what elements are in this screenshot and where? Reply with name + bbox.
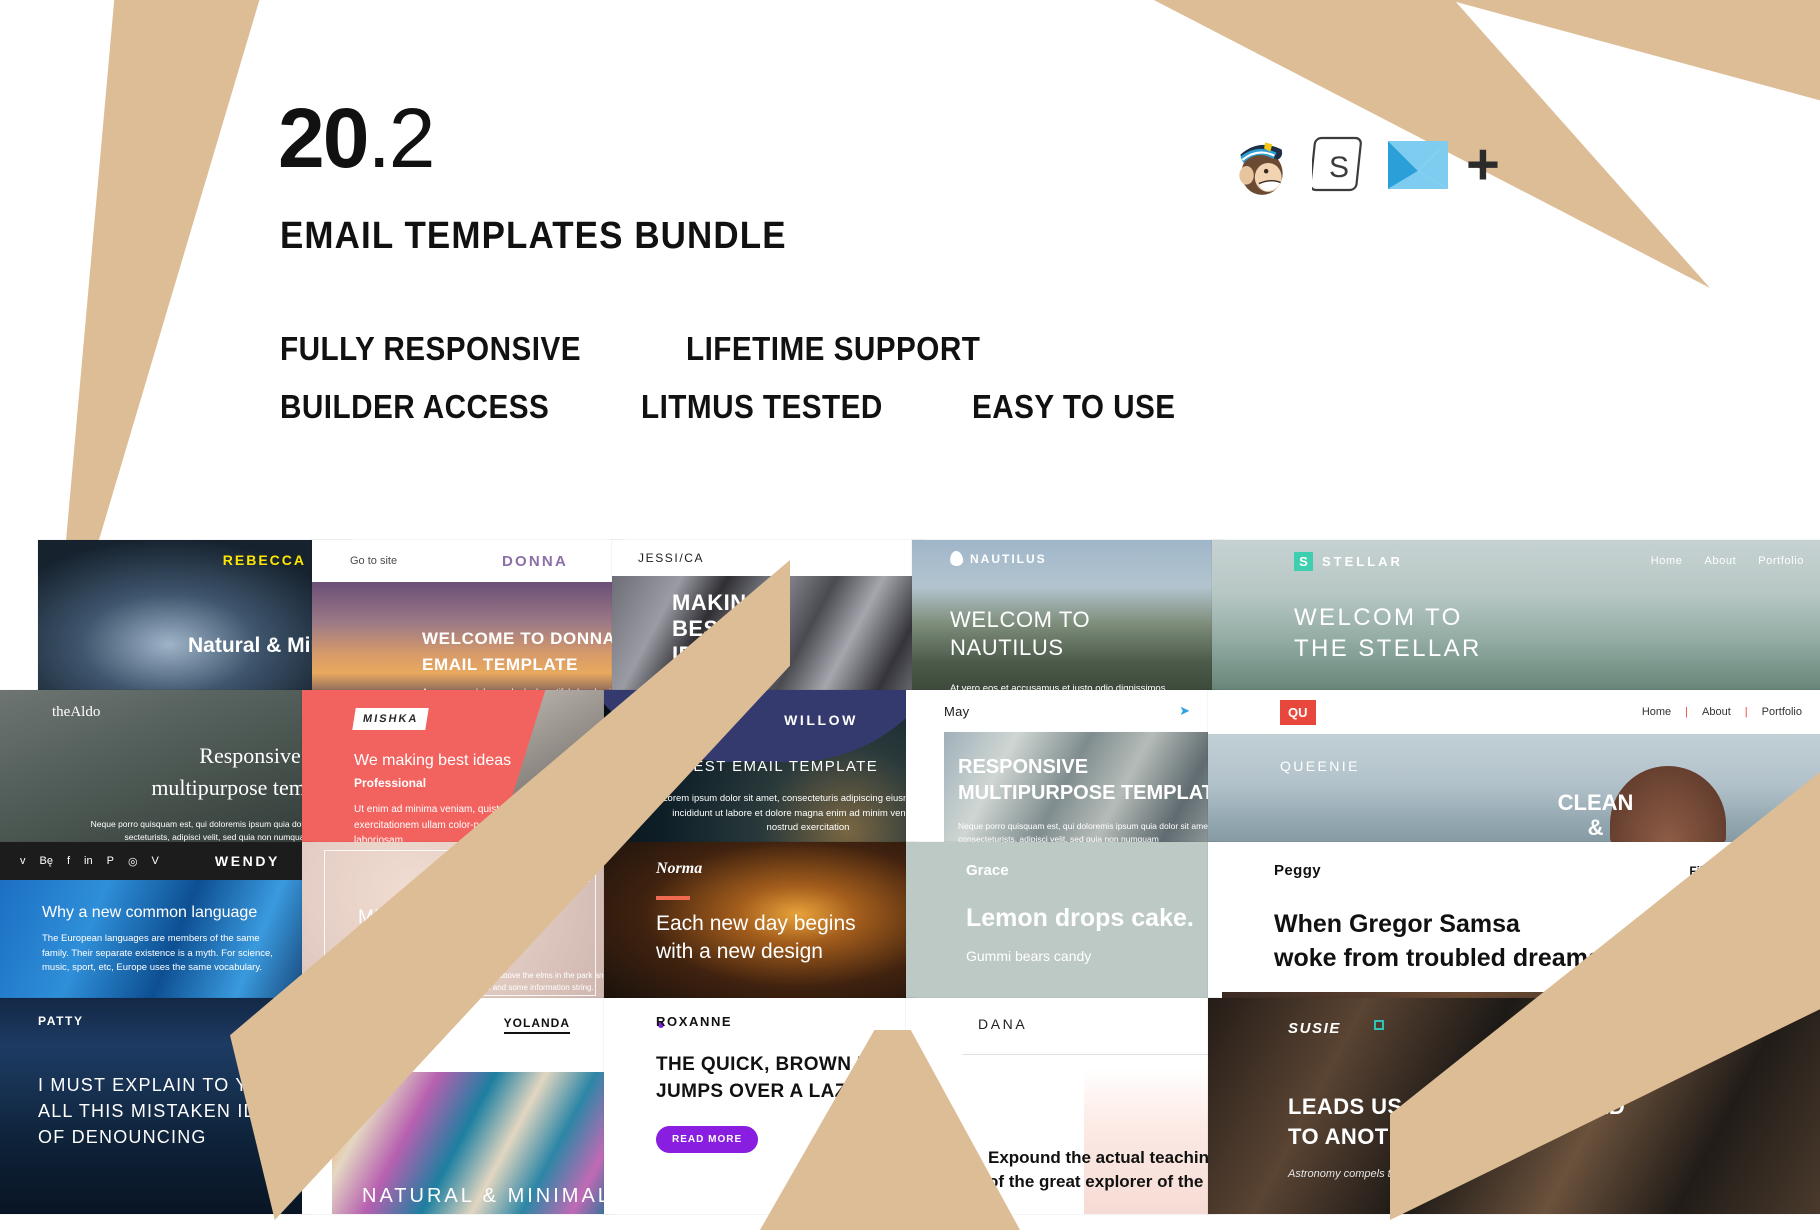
template-card-susie[interactable]: SUSIE LEADS US FROM THIS WORLD TO ANOTHE… [1208, 998, 1820, 1214]
headline-wendy: Why a new common language [42, 904, 257, 922]
nav-item-portfolio[interactable]: Portfolio [1758, 555, 1804, 567]
headline-aldo: Responsive multipurpose template [80, 740, 312, 804]
brand-jessica: JESSI/CA [638, 551, 704, 565]
subhead-grace: Gummi bears candy [966, 948, 1091, 964]
brand-aldo: theAldo [52, 704, 100, 721]
template-card-grace[interactable]: Grace Lemon drops cake. Gummi bears cand… [906, 842, 1218, 1006]
brand-may: May [944, 704, 969, 719]
body-aldo: Neque porro quisquam est, qui doloremis … [68, 818, 312, 844]
template-preview-grid: REBECCA Natural & Minimal Go to site DON… [0, 540, 1820, 1214]
mailchimp-icon [1228, 132, 1294, 198]
headline-allison: MULTIPURPOSE EMAIL TEMPLATE [358, 904, 527, 959]
nav-item-film[interactable]: Film [1689, 864, 1714, 878]
header: 20.2 EMAIL TEMPLATES BUNDLE FULLY RESPON… [0, 0, 1820, 540]
stampready-icon: S [1312, 132, 1370, 198]
brand-stellar: STELLAR [1322, 554, 1403, 569]
headline-susie: LEADS US FROM THIS WORLD TO ANOTHER [1288, 1092, 1625, 1152]
template-card-patty[interactable]: PATTY I MUST EXPLAIN TO YOU ALL THIS MIS… [0, 998, 312, 1214]
nav-item-home[interactable]: Home [1642, 706, 1671, 718]
twitter-icon[interactable]: ➤ [1179, 703, 1190, 719]
brand-dana: DANA [978, 1016, 1027, 1032]
template-card-may[interactable]: May ➤ RESPONSIVE MULTIPURPOSE TEMPLATE N… [906, 690, 1218, 850]
page-subtitle: EMAIL TEMPLATES BUNDLE [280, 215, 787, 258]
template-topbar: May [906, 690, 1218, 732]
template-topbar: JESSI/CA [612, 540, 924, 576]
norma-accent-rule [656, 896, 690, 900]
brand-willow: WILLOW [784, 712, 858, 728]
vimeo-icon[interactable]: V [152, 855, 159, 868]
brand-roxanne: ROXANNE [656, 1014, 732, 1029]
body-wendy: The European languages are members of th… [42, 932, 282, 976]
feature-easy-to-use: EASY TO USE [972, 388, 1176, 426]
brand-donna: DONNA [502, 553, 568, 570]
template-card-wendy[interactable]: ᴠ Bę f in P ◎ V WENDY Why a new common l… [0, 842, 312, 1006]
template-card-peggy[interactable]: Peggy Film Shop When Gregor Samsa woke f… [1208, 842, 1820, 1006]
brand-wendy: WENDY [215, 853, 280, 869]
queenie-logo-badge: QU [1280, 700, 1316, 725]
brand-peggy: Peggy [1274, 862, 1321, 879]
headline-willow: BEST EMAIL TEMPLATE [682, 758, 878, 775]
peggy-nav: Film Shop [1689, 864, 1802, 878]
nav-separator: | [1745, 706, 1748, 718]
plus-icon: + [1466, 148, 1500, 183]
brand-susie: SUSIE [1288, 1020, 1341, 1037]
headline-roxanne: THE QUICK, BROWN FOX JUMPS OVER A LAZY D… [656, 1052, 910, 1106]
nav-item-shop[interactable]: Shop [1772, 864, 1802, 878]
headline-may: RESPONSIVE MULTIPURPOSE TEMPLATE [958, 754, 1218, 807]
headline-norma: Each new day begins with a new design [656, 910, 856, 967]
nav-item-portfolio[interactable]: Portfolio [1762, 706, 1802, 718]
headline-donna: WELCOME TO DONNA EMAIL TEMPLATE [422, 626, 615, 677]
brand-patty: PATTY [38, 1014, 84, 1028]
feature-row-2: BUILDER ACCESS LITMUS TESTED EASY TO USE [280, 388, 1198, 426]
subhead-susie: Astronomy compels the soul to look [1288, 1168, 1462, 1180]
platform-icon-row: S + [1228, 132, 1500, 198]
brand-nautilus: NAUTILUS [970, 552, 1047, 566]
template-card-queenie[interactable]: QU Home | About | Portfolio QUEENIE CLEA… [1208, 690, 1820, 860]
template-topbar: QU Home | About | Portfolio [1208, 690, 1820, 734]
brand-allison: ALLISON [527, 864, 590, 882]
headline-jessica: MAKING BEST IDEAS [672, 590, 764, 668]
template-card-allison[interactable]: ALLISON MULTIPURPOSE EMAIL TEMPLATE I re… [302, 842, 614, 1006]
social-icon-row: ᴠ Bę f in P ◎ V [20, 855, 159, 868]
template-card-mishka[interactable]: MISHKA We making best ideas Professional… [302, 690, 614, 850]
headline-patty: I MUST EXPLAIN TO YOU ALL THIS MISTAKEN … [38, 1072, 284, 1150]
version-decimal: .2 [367, 91, 433, 185]
brand-rebecca: REBECCA [223, 552, 306, 568]
feature-lifetime-support: LIFETIME SUPPORT [686, 330, 980, 368]
page-title: 20.2 [278, 96, 434, 180]
nav-item-about[interactable]: About [1702, 706, 1731, 718]
go-to-site-link[interactable]: Go to site [350, 555, 397, 567]
headline-nautilus: WELCOM TO NAUTILUS [950, 606, 1090, 661]
template-card-willow[interactable]: WILLOW BEST EMAIL TEMPLATE Lorem ipsum d… [604, 690, 916, 850]
feature-fully-responsive: FULLY RESPONSIVE [280, 330, 581, 368]
susie-square-icon [1374, 1020, 1384, 1030]
template-card-aldo[interactable]: theAldo Responsive multipurpose template… [0, 690, 312, 850]
brand-mishka: MISHKA [352, 708, 429, 730]
brand-queenie: QUEENIE [1280, 758, 1360, 774]
headline-stellar: WELCOM TO THE STELLAR [1294, 602, 1482, 664]
nav-item-about[interactable]: About [1704, 555, 1736, 567]
svg-text:S: S [1329, 151, 1349, 184]
dana-divider [962, 1054, 1218, 1055]
feature-row-1: FULLY RESPONSIVE LIFETIME SUPPORT [280, 330, 1013, 368]
headline-dana: Expound the actual teaching of the great… [988, 1146, 1218, 1194]
twitter-icon[interactable]: ᴠ [20, 855, 26, 868]
body-allison: I remarked a beautiful churchspire risin… [348, 970, 614, 995]
feature-builder-access: BUILDER ACCESS [280, 388, 549, 426]
instagram-icon[interactable]: ◎ [128, 855, 138, 868]
brand-yolanda: YOLANDA [504, 1016, 570, 1034]
nav-item-home[interactable]: Home [1651, 555, 1683, 567]
queenie-nav: Home | About | Portfolio [1642, 706, 1802, 718]
brand-grace: Grace [966, 862, 1009, 879]
template-card-norma[interactable]: Norma Each new day begins with a new des… [604, 842, 916, 1006]
headline-peggy: When Gregor Samsa woke from troubled dre… [1274, 908, 1602, 976]
read-more-button[interactable]: READ MORE [656, 1126, 758, 1153]
subhead-mishka: Professional [354, 776, 426, 790]
linkedin-icon[interactable]: in [84, 855, 93, 868]
template-topbar: ᴠ Bę f in P ◎ V WENDY [0, 842, 312, 880]
behance-icon[interactable]: Bę [40, 855, 53, 868]
template-card-dana[interactable]: DANA Expound the actual teaching of the … [906, 998, 1218, 1214]
body-willow: Lorem ipsum dolor sit amet, consecteturi… [658, 792, 916, 836]
template-topbar: Go to site DONNA [312, 540, 624, 582]
template-card-roxanne[interactable]: ROXANNE THE QUICK, BROWN FOX JUMPS OVER … [604, 998, 916, 1214]
facebook-icon[interactable]: f [67, 855, 70, 868]
brand-norma: Norma [656, 860, 702, 878]
headline-mishka: We making best ideas [354, 752, 511, 770]
nav-separator: | [1685, 706, 1688, 718]
campaign-monitor-envelope-icon [1388, 141, 1448, 189]
pinterest-icon[interactable]: P [107, 855, 114, 868]
template-card-yolanda[interactable]: YOLANDA NATURAL & MINIMAL [302, 998, 614, 1214]
version-main: 20 [278, 91, 367, 185]
stellar-logo-badge: S [1294, 552, 1313, 571]
headline-yolanda: NATURAL & MINIMAL [362, 1185, 612, 1208]
feature-litmus-tested: LITMUS TESTED [641, 388, 883, 426]
headline-grace: Lemon drops cake. [966, 904, 1194, 933]
stellar-nav: Home About Portfolio [1651, 555, 1804, 567]
